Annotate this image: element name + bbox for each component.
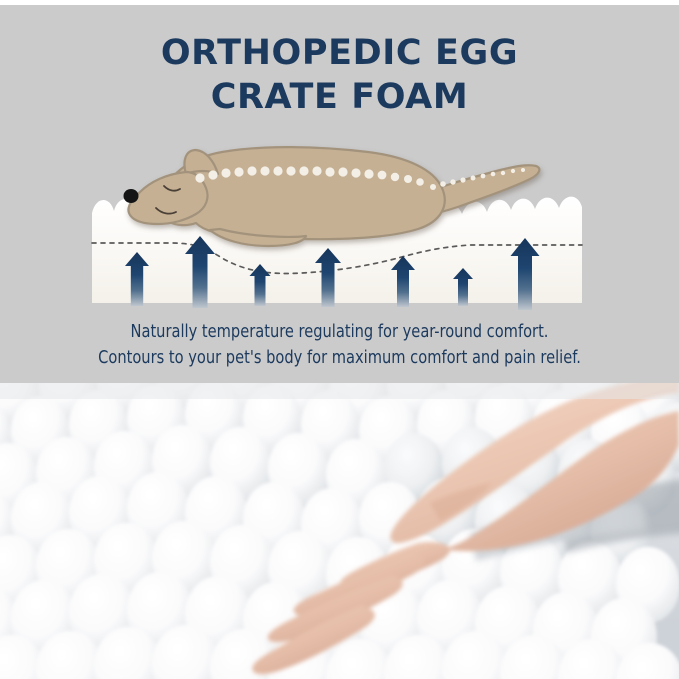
dog-nose [124, 189, 139, 203]
title-line-1: ORTHOPEDIC EGG [0, 31, 679, 75]
product-infographic: ORTHOPEDIC EGG CRATE FOAM [0, 0, 679, 679]
benefit-line-2: Contours to your pet's body for maximum … [24, 345, 655, 371]
top-info-panel: ORTHOPEDIC EGG CRATE FOAM [0, 5, 679, 383]
title-line-2: CRATE FOAM [0, 75, 679, 119]
foam-photo-section [0, 383, 679, 679]
page-title: ORTHOPEDIC EGG CRATE FOAM [0, 31, 679, 119]
benefit-line-1: Naturally temperature regulating for yea… [24, 319, 655, 345]
dog-on-foam-illustration [0, 130, 679, 315]
benefit-text-block: Naturally temperature regulating for yea… [0, 319, 679, 371]
